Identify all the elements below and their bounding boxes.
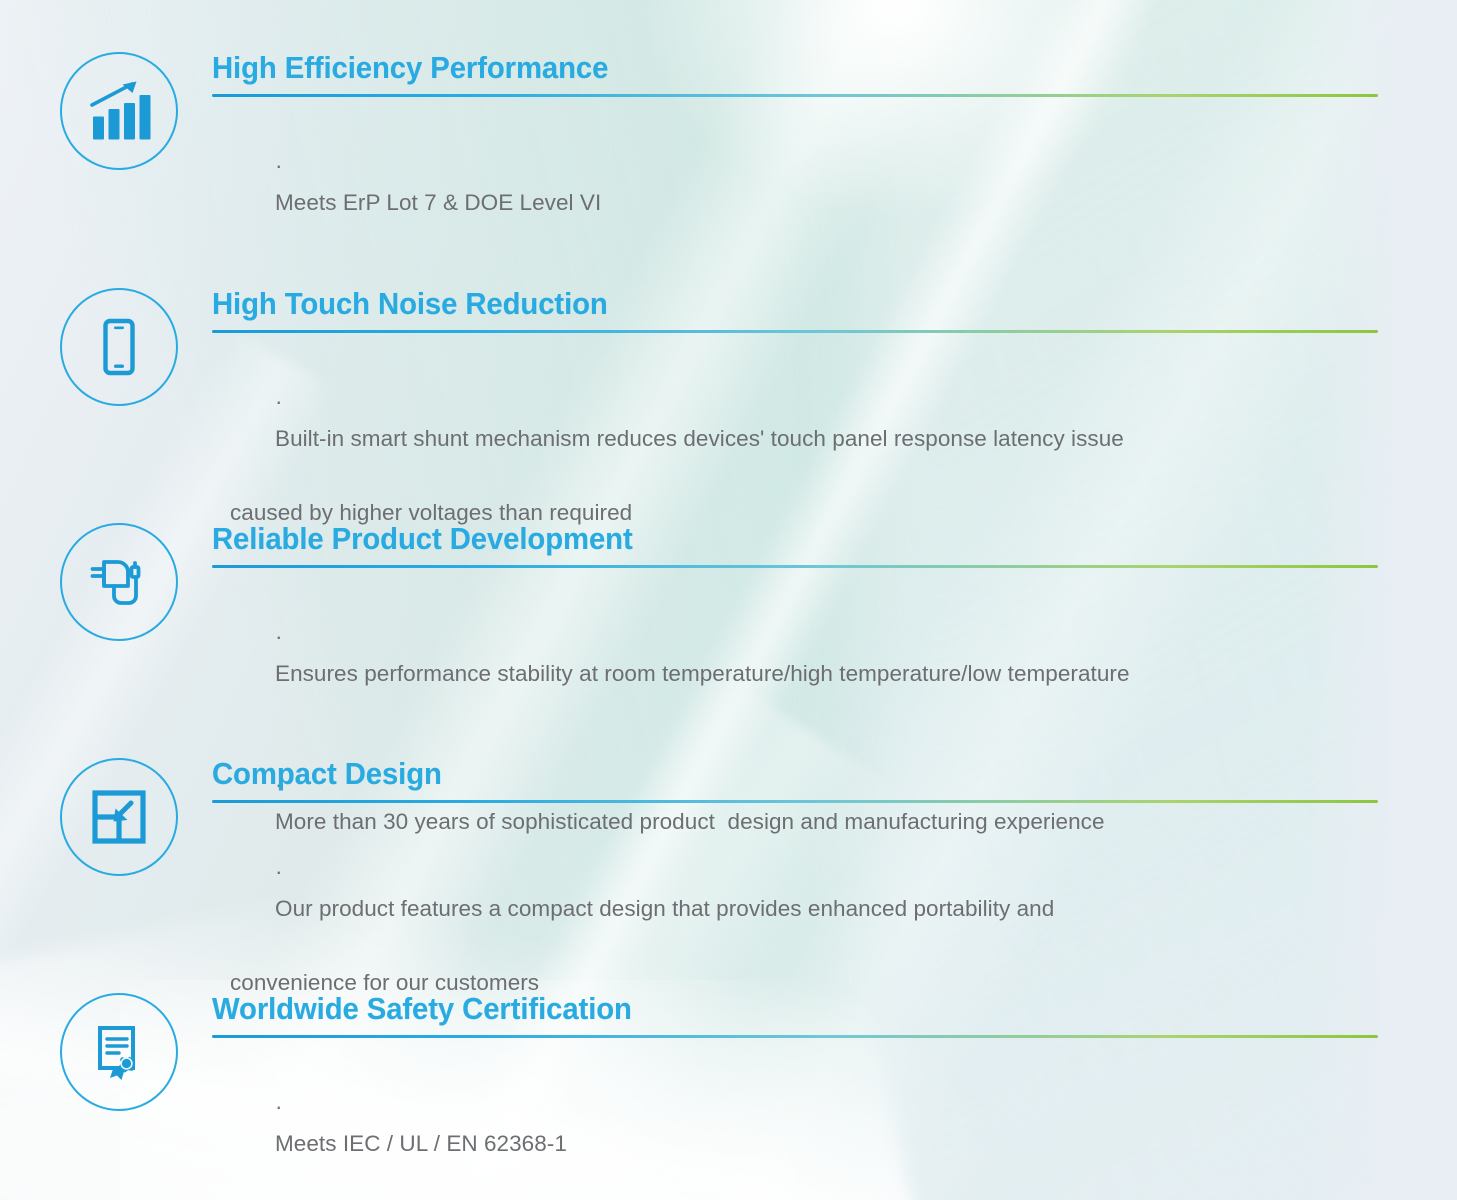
feature-divider	[212, 330, 1378, 333]
bullet-text: Meets ErP Lot 7 & DOE Level VI	[275, 190, 601, 215]
feature-bullets: · Meets IEC / UL / EN 62368-1	[212, 1051, 1378, 1199]
bullet-marker: ·	[275, 859, 284, 884]
compact-resize-icon	[60, 758, 178, 876]
bullet-text: Ensures performance stability at room te…	[275, 661, 1130, 686]
certificate-award-icon	[60, 993, 178, 1111]
feature-bullets: · Meets ErP Lot 7 & DOE Level VI	[212, 110, 1378, 258]
feature-list: High Efficiency Performance · Meets ErP …	[0, 0, 1457, 1200]
feature-icon-wrap	[60, 523, 178, 641]
feature-divider	[212, 800, 1378, 803]
smartphone-icon	[60, 288, 178, 406]
feature-title: Worldwide Safety Certification	[212, 993, 1314, 1026]
feature-bullet: · Meets ErP Lot 7 & DOE Level VI	[212, 110, 1378, 258]
feature-divider	[212, 1035, 1378, 1038]
bullet-text: Meets IEC / UL / EN 62368-1	[275, 1131, 567, 1156]
feature-icon-wrap	[60, 993, 178, 1111]
feature-bullet: · Ensures performance stability at room …	[212, 581, 1378, 729]
growth-bar-chart-icon	[60, 52, 178, 170]
feature-icon-wrap	[60, 758, 178, 876]
feature-title: High Efficiency Performance	[212, 52, 1314, 85]
bullet-marker: ·	[275, 1094, 284, 1119]
feature-icon-wrap	[60, 52, 178, 170]
bullet-marker: ·	[275, 624, 284, 649]
feature-title: High Touch Noise Reduction	[212, 288, 1314, 321]
feature-title: Compact Design	[212, 758, 1314, 791]
bullet-marker: ·	[275, 153, 284, 178]
feature-title: Reliable Product Development	[212, 523, 1314, 556]
bullet-marker: ·	[275, 389, 284, 414]
feature-divider	[212, 94, 1378, 97]
bullet-text: Built-in smart shunt mechanism reduces d…	[275, 426, 1124, 451]
feature-body: Worldwide Safety Certification · Meets I…	[212, 993, 1378, 1199]
feature-divider	[212, 565, 1378, 568]
feature-icon-wrap	[60, 288, 178, 406]
bullet-text: Our product features a compact design th…	[275, 896, 1054, 921]
feature-bullet: · Meets IEC / UL / EN 62368-1	[212, 1051, 1378, 1199]
power-adapter-icon	[60, 523, 178, 641]
feature-body: High Efficiency Performance · Meets ErP …	[212, 52, 1378, 258]
